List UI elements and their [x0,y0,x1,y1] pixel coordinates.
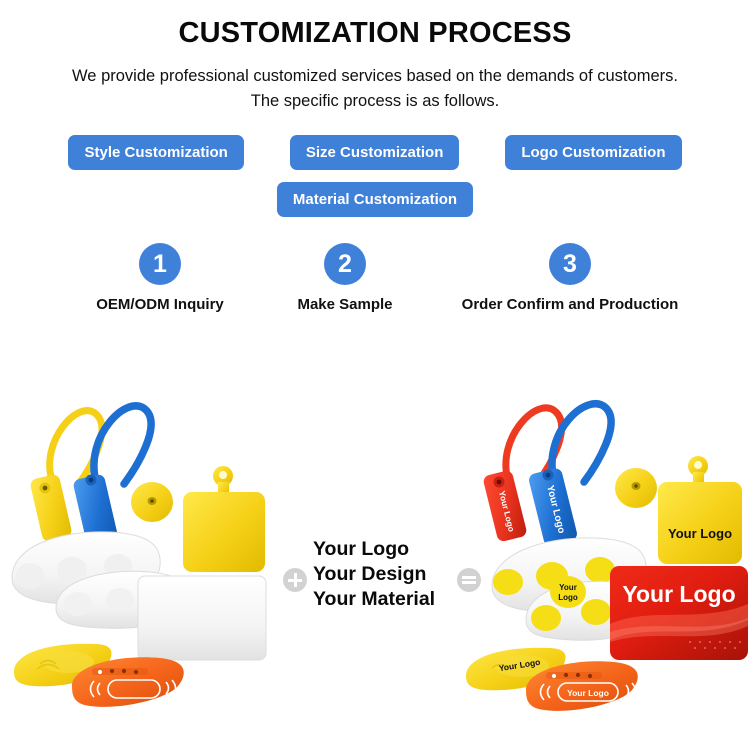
customization-process-page: CUSTOMIZATION PROCESS We provide profess… [0,0,750,750]
plus-circle-icon [283,568,307,592]
ear-tag-logo-text: Your Logo [668,526,732,541]
red-card-logo-text: Your Logo [622,581,735,607]
comparison-line-2: Your Design [313,562,443,587]
blue-zip-tag-logo: Your Logo [528,404,612,547]
comparison-center: Your Logo Your Design Your Material [275,530,475,640]
blank-products-photo [0,380,300,750]
yellow-ear-tag-button [131,482,173,522]
header: CUSTOMIZATION PROCESS We provide profess… [0,0,750,113]
customization-options: Style Customization Size Customization L… [0,135,750,217]
page-title: CUSTOMIZATION PROCESS [0,18,750,50]
wristband-logo-line2: Logo [558,593,578,602]
option-style-customization[interactable]: Style Customization [68,135,243,170]
comparison-line-1: Your Logo [313,537,443,562]
options-row-1: Style Customization Size Customization L… [0,135,750,170]
product-comparison: Your Logo Your Design Your Material [0,380,750,750]
orange-wristband-logo-text: Your Logo [567,688,609,698]
step-2-badge: 2 [324,243,366,285]
subtitle-line-1: We provide professional customized servi… [72,67,678,85]
subtitle-line-2: The specific process is as follows. [25,89,725,114]
white-blank-card [138,576,266,660]
yellow-ear-tag [183,466,265,572]
option-logo-customization[interactable]: Logo Customization [505,135,681,170]
step-3-badge: 3 [549,243,591,285]
wristband-logo-line1: Your [559,583,577,592]
yellow-ear-tag-button [615,468,657,508]
yellow-ear-tag-logo: Your Logo [658,456,742,564]
comparison-text: Your Logo Your Design Your Material [313,537,443,612]
customized-products-photo: Your Logo Your Logo [450,380,750,750]
option-size-customization[interactable]: Size Customization [290,135,460,170]
step-3-label: Order Confirm and Production [390,296,750,313]
process-steps: 1 OEM/ODM Inquiry 2 Make Sample 3 Order … [0,243,750,331]
step-1-badge: 1 [139,243,181,285]
option-material-customization[interactable]: Material Customization [277,182,473,217]
red-card-logo: Your Logo [610,566,748,660]
comparison-line-3: Your Material [313,587,443,612]
process-step-3: 3 Order Confirm and Production [390,243,750,313]
blue-zip-tag [72,406,151,551]
options-row-2: Material Customization [0,182,750,217]
page-subtitle: We provide professional customized servi… [25,64,725,114]
